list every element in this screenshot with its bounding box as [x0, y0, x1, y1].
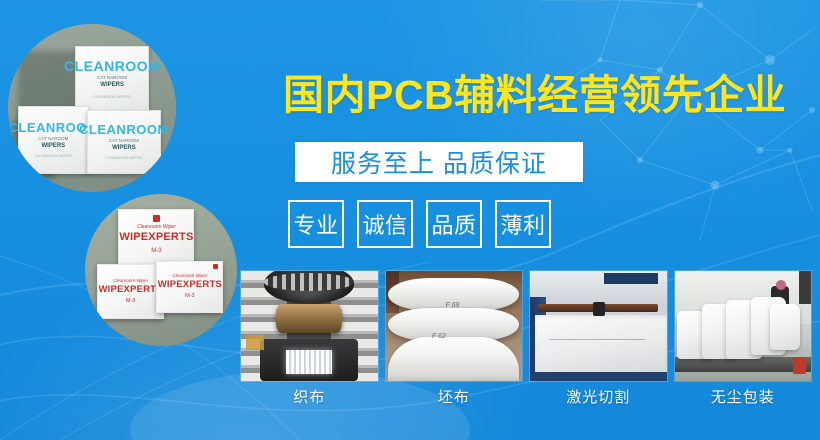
wipexperts-pack-cursive: Cleanroom Wiper: [172, 274, 207, 279]
greige-fabric-rolls-photo: F 68 F 62: [385, 270, 524, 382]
wipexperts-pack-mark: M-3: [126, 299, 135, 305]
cleanroom-pack-sub2: WIPERS: [100, 82, 124, 89]
process-photo-strip: 织布 F 68 F 62 坯布: [240, 270, 812, 382]
cleanroom-pack-footer: CLEANROOM WIPERS: [35, 155, 72, 159]
promotional-banner: CLEANROOM CAT NAROOM WIPERS CLEANROOM WI…: [0, 0, 820, 440]
process-caption: 坯布: [385, 386, 524, 407]
process-item-greige-fabric: F 68 F 62 坯布: [385, 270, 524, 382]
cleanroom-pack-title: CLEANROOM: [79, 123, 169, 136]
cleanroom-packing-photo: [674, 270, 813, 382]
feature-tag-quality: 品质: [426, 200, 482, 248]
wipexperts-pack-title: WIPEXPERTS: [98, 285, 162, 295]
process-item-cleanroom-packing: 无尘包装: [674, 270, 813, 382]
banner-subtitle-text: 服务至上 品质保证: [331, 144, 547, 180]
feature-tag-professional: 专业: [288, 200, 344, 248]
feature-tag-list: 专业 诚信 品质 薄利: [288, 200, 551, 248]
wipexperts-pack-cursive: Cleanroom Wiper: [137, 225, 176, 230]
process-item-weaving: 织布: [240, 270, 379, 382]
feature-tag-label: 品质: [431, 208, 476, 240]
feature-tag-label: 诚信: [362, 208, 407, 240]
wipexperts-pack-title: WIPEXPERTS: [158, 280, 222, 290]
process-caption: 织布: [240, 386, 379, 407]
cleanroom-pack-footer: CLEANROOM WIPERS: [105, 157, 142, 161]
knitting-machine-photo: [240, 270, 379, 382]
process-caption: 无尘包装: [674, 386, 813, 407]
wipexperts-pack-cursive: Cleanroom Wiper: [113, 279, 148, 284]
banner-subtitle-bar: 服务至上 品质保证: [295, 142, 583, 182]
feature-tag-label: 专业: [293, 208, 338, 240]
laser-cutting-machine-photo: [529, 270, 668, 382]
process-caption: 激光切割: [529, 386, 668, 407]
feature-tag-low-margin: 薄利: [495, 200, 551, 248]
wipexperts-pack-mark: M-3: [185, 294, 194, 300]
wipexperts-pack-title: WIPEXPERTS: [119, 232, 193, 243]
cleanroom-pack-sub2: WIPERS: [112, 145, 136, 152]
process-item-laser-cutting: 激光切割: [529, 270, 668, 382]
cleanroom-pack-sub: CAT NAROOM: [38, 137, 68, 142]
cleanroom-wipes-photo: CLEANROOM CAT NAROOM WIPERS CLEANROOM WI…: [8, 24, 176, 192]
banner-headline: 国内PCB辅料经营领先企业: [283, 73, 783, 119]
feature-tag-integrity: 诚信: [357, 200, 413, 248]
cleanroom-pack-sub: CAT NAROOM: [97, 76, 127, 81]
wipexperts-packs-photo: Cleanroom Wiper WIPEXPERTS M-3 Cleanroom…: [85, 194, 237, 346]
cleanroom-pack-sub: CAT NAROOM: [109, 139, 139, 144]
feature-tag-label: 薄利: [500, 208, 545, 240]
cleanroom-pack-title: CLEANROOM: [64, 59, 160, 73]
wipexperts-pack-mark: M-3: [151, 248, 161, 254]
cleanroom-pack-footer: CLEANROOM WIPERS: [93, 96, 130, 100]
cleanroom-pack-sub2: WIPERS: [42, 143, 66, 150]
